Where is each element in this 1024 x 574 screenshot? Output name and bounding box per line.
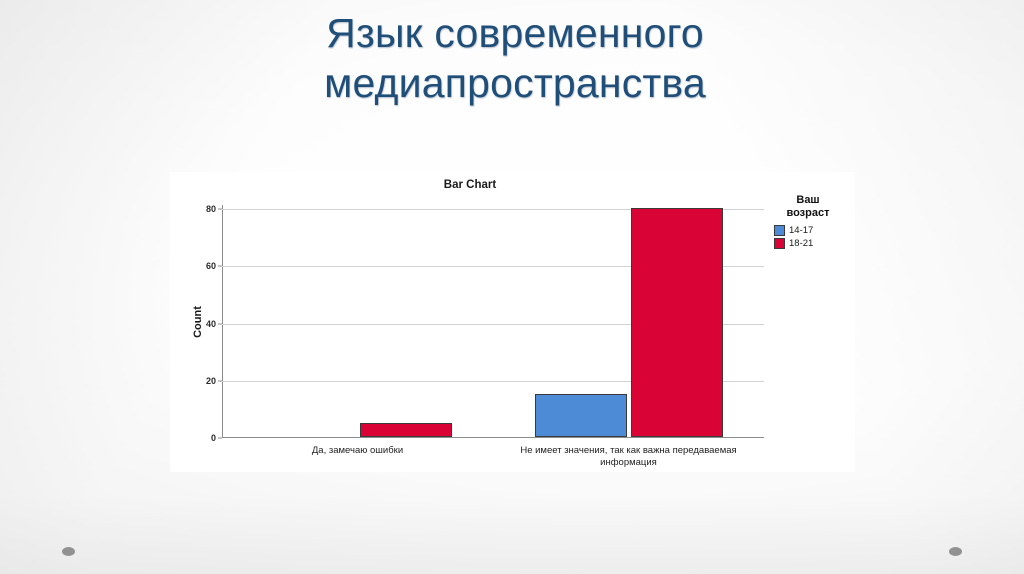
decorative-dot-right [949,547,962,556]
chart-legend: Ваш возраст 14-1718-21 [762,194,854,251]
decorative-dot-left [62,547,75,556]
y-tick-label: 80 [206,204,216,214]
y-tick-mark [218,323,222,324]
y-axis-label: Count [192,306,204,338]
y-tick-label: 60 [206,261,216,271]
chart-panel: Bar Chart Count 020406080 Да, замечаю ош… [170,172,855,472]
y-tick-label: 20 [206,376,216,386]
y-tick-label: 0 [211,433,216,443]
legend-item-label: 14-17 [789,225,813,236]
legend-item[interactable]: 14-17 [774,225,854,236]
y-tick-mark [218,438,222,439]
legend-swatch-icon [774,238,785,249]
legend-swatch-icon [774,225,785,236]
legend-title-line-1: Ваш [762,194,854,207]
bar-18-21-cat0 [360,423,452,437]
bar-14-17-cat1 [535,394,627,437]
y-tick-label: 40 [206,319,216,329]
legend-item[interactable]: 18-21 [774,238,854,249]
plot-area: 020406080 Да, замечаю ошибкиНе имеет зна… [222,209,764,438]
y-axis-line [222,205,223,438]
category-label: Да, замечаю ошибки [263,445,453,457]
presentation-slide: Язык современного медиапространства Bar … [0,0,1024,574]
y-tick-mark [218,380,222,381]
category-label: Не имеет значения, так как важна передав… [504,445,754,469]
chart-title: Bar Chart [170,179,770,191]
y-tick-mark [218,266,222,267]
slide-title: Язык современного медиапространства [150,8,880,108]
y-tick-mark [218,209,222,210]
legend-item-label: 18-21 [789,238,813,249]
legend-title-line-2: возраст [762,207,854,220]
legend-title: Ваш возраст [762,194,854,220]
legend-items: 14-1718-21 [762,225,854,249]
bar-18-21-cat1 [631,208,723,437]
x-axis-line [222,437,764,438]
